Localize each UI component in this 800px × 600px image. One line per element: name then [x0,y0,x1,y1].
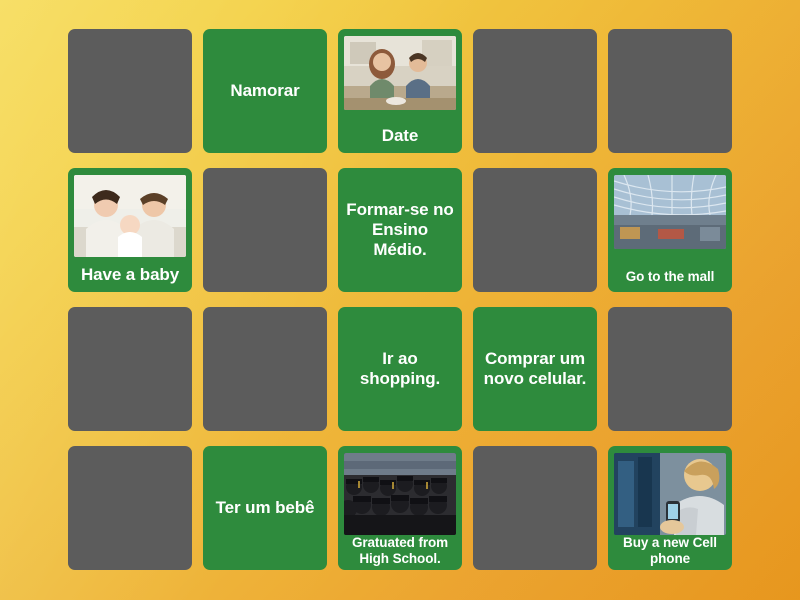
tile-label: Date [376,126,424,146]
tile-label: Comprar um novo celular. [473,349,597,389]
tile-card[interactable]: Gratuated from High School. [338,446,462,570]
tile-label: Go to the mall [620,269,721,285]
tile-label: Namorar [224,81,305,101]
tile-blank[interactable] [68,307,192,431]
tile-card[interactable]: Buy a new Cell phone [608,446,732,570]
family-with-baby-photo [74,175,186,257]
tile-blank[interactable] [608,307,732,431]
tile-label: Gratuated from High School. [338,535,462,566]
tile-blank[interactable] [68,29,192,153]
tile-card[interactable]: Date [338,29,462,153]
tile-card[interactable]: Have a baby [68,168,192,292]
graduation-ceremony-photo [344,453,456,535]
tile-card[interactable]: Namorar [203,29,327,153]
tile-blank[interactable] [473,29,597,153]
tile-card[interactable]: Go to the mall [608,168,732,292]
shopping-mall-interior-photo [614,175,726,249]
tile-blank[interactable] [203,168,327,292]
tile-blank[interactable] [473,446,597,570]
tile-label: Formar-se no Ensino Médio. [338,200,462,260]
tile-label: Buy a new Cell phone [608,535,732,566]
tile-card[interactable]: Formar-se no Ensino Médio. [338,168,462,292]
person-holding-phone-photo [614,453,726,535]
tile-label: Ir ao shopping. [338,349,462,389]
tile-label: Have a baby [75,265,185,285]
tile-blank[interactable] [608,29,732,153]
tile-blank[interactable] [203,307,327,431]
tile-blank[interactable] [473,168,597,292]
game-board: Namorar [0,0,800,600]
tile-blank[interactable] [68,446,192,570]
tile-grid: Namorar [68,29,732,571]
tile-card[interactable]: Comprar um novo celular. [473,307,597,431]
couple-at-cafe-photo [344,36,456,110]
tile-card[interactable]: Ir ao shopping. [338,307,462,431]
tile-label: Ter um bebê [210,498,321,518]
tile-card[interactable]: Ter um bebê [203,446,327,570]
